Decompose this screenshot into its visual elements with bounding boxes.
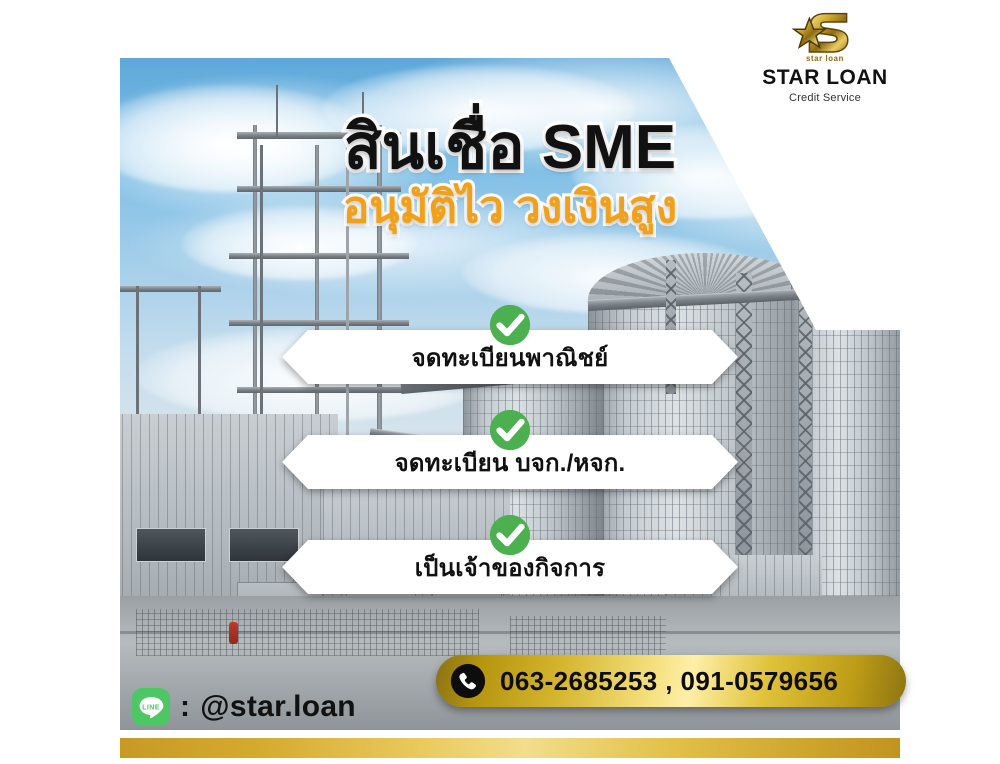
- green-check-icon: [487, 512, 533, 558]
- perimeter-fence: [136, 609, 479, 656]
- brand-name: STAR LOAN: [710, 66, 940, 89]
- bottom-gold-bar: [120, 738, 900, 758]
- green-check-icon: [487, 302, 533, 348]
- phone-numbers: 063-2685253 , 091-0579656: [500, 666, 838, 697]
- phone-contact-bar[interactable]: 063-2685253 , 091-0579656: [436, 655, 906, 707]
- line-contact-row[interactable]: LINE : @star.loan: [132, 688, 356, 726]
- poster-canvas: สินเชื่อ SME อนุมัติไว วงเงินสูง จดทะเบี…: [0, 0, 1000, 764]
- line-separator: :: [180, 690, 190, 724]
- poster-artboard: สินเชื่อ SME อนุมัติไว วงเงินสูง จดทะเบี…: [120, 58, 900, 730]
- star-loan-logo-icon: star loan: [789, 4, 861, 64]
- fire-hydrant: [229, 622, 238, 644]
- phone-icon: [450, 663, 486, 699]
- antenna-mast: [362, 92, 364, 139]
- brand-lockup: star loan STAR LOAN Credit Service: [710, 0, 940, 104]
- tower-deck: [229, 320, 408, 326]
- line-app-icon: LINE: [132, 688, 170, 726]
- perimeter-fence: [510, 616, 666, 656]
- tower-deck: [229, 253, 408, 259]
- antenna-mast: [276, 85, 278, 139]
- svg-text:LINE: LINE: [142, 703, 160, 711]
- feature-row-3: เป็นเจ้าของกิจการ: [120, 540, 900, 594]
- tower-beam: [346, 145, 349, 468]
- feature-row-1: จดทะเบียนพาณิชย์: [120, 330, 900, 384]
- green-check-icon: [487, 407, 533, 453]
- svg-text:star loan: star loan: [806, 54, 844, 63]
- feature-row-2: จดทะเบียน บจก./หจก.: [120, 435, 900, 489]
- line-id: @star.loan: [200, 690, 356, 724]
- cloud-shape: [323, 65, 635, 152]
- brand-tagline: Credit Service: [710, 92, 940, 104]
- tower-deck: [237, 132, 401, 139]
